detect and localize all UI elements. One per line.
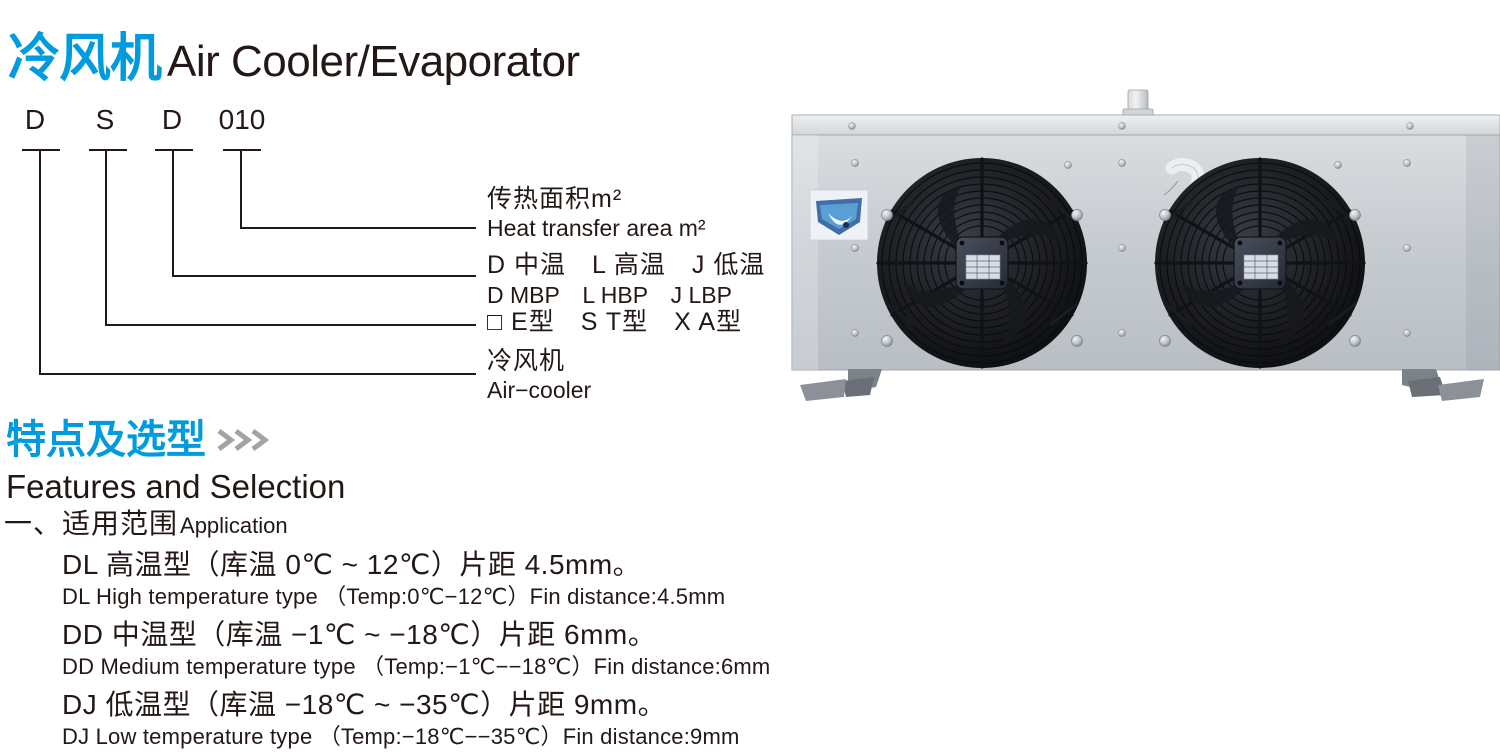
leader-tick-4 xyxy=(223,149,261,151)
leader-vline-1 xyxy=(39,149,41,374)
model-code-segment-4: 010 xyxy=(207,106,277,134)
page-title: 冷风机 Air Cooler/Evaporator xyxy=(8,33,580,85)
application-item-dl-cn: DL 高温型（库温 0℃ ~ 12℃）片距 4.5mm。 xyxy=(62,548,725,582)
model-label-heat-transfer: 传热面积m² Heat transfer area m² xyxy=(487,184,706,242)
model-label-temperature-class-cn: D 中温 L 高温 J 低温 xyxy=(487,250,765,281)
application-subheading-english: Application xyxy=(180,513,288,538)
fan-right xyxy=(1155,158,1365,368)
leader-hline-4 xyxy=(240,227,476,229)
leader-hline-3 xyxy=(172,275,476,277)
features-heading-english: Features and Selection xyxy=(6,468,345,506)
model-code-segment-3: D xyxy=(157,106,187,134)
leader-vline-2 xyxy=(105,149,107,325)
model-code-segment-2: S xyxy=(90,106,120,134)
brand-sticker-logo xyxy=(810,190,868,240)
application-item-dl: DL 高温型（库温 0℃ ~ 12℃）片距 4.5mm。 DL High tem… xyxy=(62,548,725,612)
application-item-dd-cn: DD 中温型（库温 −1℃ ~ −18℃）片距 6mm。 xyxy=(62,618,770,652)
model-label-air-cooler: 冷风机 Air−cooler xyxy=(487,346,591,404)
model-label-fin-type: □ E型 S T型 X A型 xyxy=(487,307,742,338)
product-photo xyxy=(790,85,1500,405)
fan-left xyxy=(877,158,1087,368)
application-item-dj-en: DJ Low temperature type （Temp:−18℃−−35℃）… xyxy=(62,722,740,752)
model-code-segment-1: D xyxy=(20,106,50,134)
model-label-temperature-class-en: D MBP L HBP J LBP xyxy=(487,281,765,309)
page-title-english: Air Cooler/Evaporator xyxy=(167,40,580,84)
model-label-air-cooler-en: Air−cooler xyxy=(487,376,591,404)
model-code-diagram: D S D 010 传热面积m² Heat transfer area m² D… xyxy=(0,100,800,405)
leader-vline-4 xyxy=(240,149,242,228)
leader-hline-2 xyxy=(105,324,476,326)
application-subheading-chinese: 一、适用范围 xyxy=(4,508,178,539)
model-label-temperature-class: D 中温 L 高温 J 低温 D MBP L HBP J LBP xyxy=(487,250,765,309)
leader-tick-1 xyxy=(22,149,60,151)
fan-right-motor-box xyxy=(1234,237,1286,289)
features-heading: 特点及选型 xyxy=(6,418,272,462)
features-heading-chinese: 特点及选型 xyxy=(6,418,206,462)
application-subheading: 一、适用范围Application xyxy=(4,508,288,542)
chevron-right-icon-svg xyxy=(216,427,272,453)
model-label-fin-type-cn: □ E型 S T型 X A型 xyxy=(487,307,742,338)
application-item-dd: DD 中温型（库温 −1℃ ~ −18℃）片距 6mm。 DD Medium t… xyxy=(62,618,770,682)
product-photo-svg xyxy=(790,85,1500,405)
application-item-dl-en: DL High temperature type （Temp:0℃−12℃）Fi… xyxy=(62,582,725,612)
leader-hline-1 xyxy=(39,373,476,375)
page-title-chinese: 冷风机 xyxy=(8,33,161,85)
model-label-heat-transfer-cn: 传热面积m² xyxy=(487,184,706,214)
unit-top-cap xyxy=(792,115,1500,137)
leader-tick-2 xyxy=(89,149,127,151)
model-label-heat-transfer-en: Heat transfer area m² xyxy=(487,214,706,242)
mounting-bracket-left xyxy=(800,369,882,401)
top-valve-fitting xyxy=(1123,90,1153,116)
leader-tick-3 xyxy=(155,149,193,151)
mounting-bracket-right xyxy=(1402,369,1484,401)
fan-left-motor-box xyxy=(956,237,1008,289)
model-label-air-cooler-cn: 冷风机 xyxy=(487,346,591,376)
page-root: 冷风机 Air Cooler/Evaporator D S D 010 传热面积… xyxy=(0,0,1500,750)
application-item-dd-en: DD Medium temperature type （Temp:−1℃−−18… xyxy=(62,652,770,682)
leader-vline-3 xyxy=(172,149,174,276)
application-item-dj-cn: DJ 低温型（库温 −18℃ ~ −35℃）片距 9mm。 xyxy=(62,688,740,722)
chevron-right-icon xyxy=(216,427,272,453)
application-item-dj: DJ 低温型（库温 −18℃ ~ −35℃）片距 9mm。 DJ Low tem… xyxy=(62,688,740,752)
